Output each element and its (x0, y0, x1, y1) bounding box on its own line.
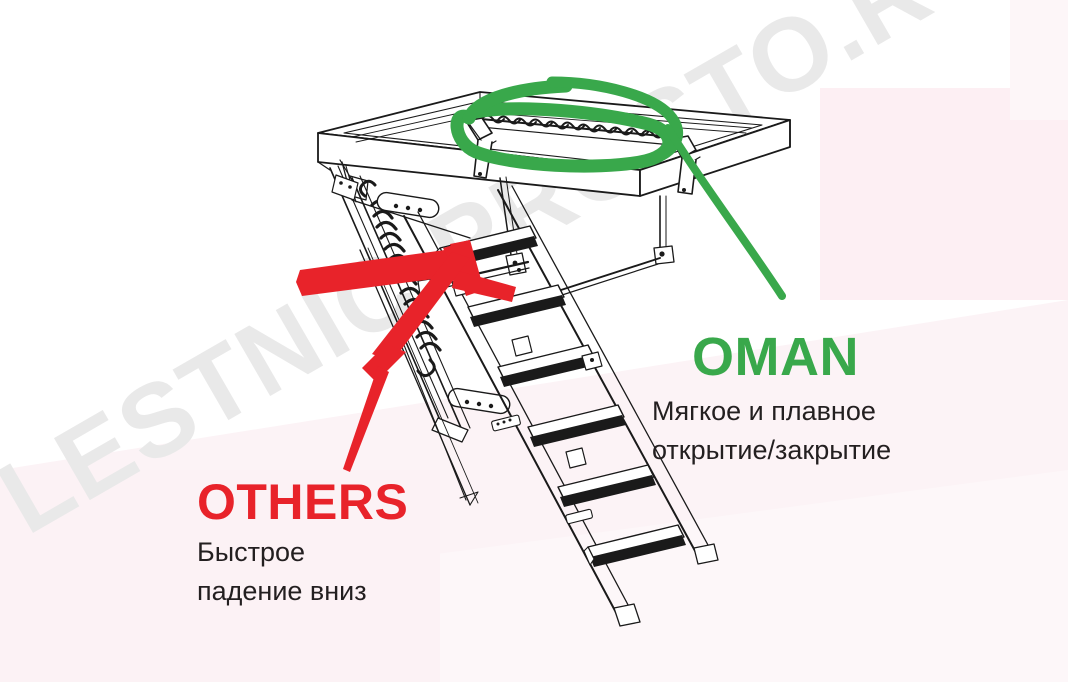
others-title: OTHERS (197, 477, 408, 527)
red-arrow (296, 240, 516, 472)
oman-description: Мягкое и плавное открытие/закрытие (652, 392, 891, 470)
oman-title: OMAN (692, 330, 859, 384)
others-description: Быстрое падение вниз (197, 533, 367, 611)
promo-banner: LESTNIC-PROSTO.RU (0, 0, 1068, 682)
red-annotation-layer (0, 0, 1068, 682)
